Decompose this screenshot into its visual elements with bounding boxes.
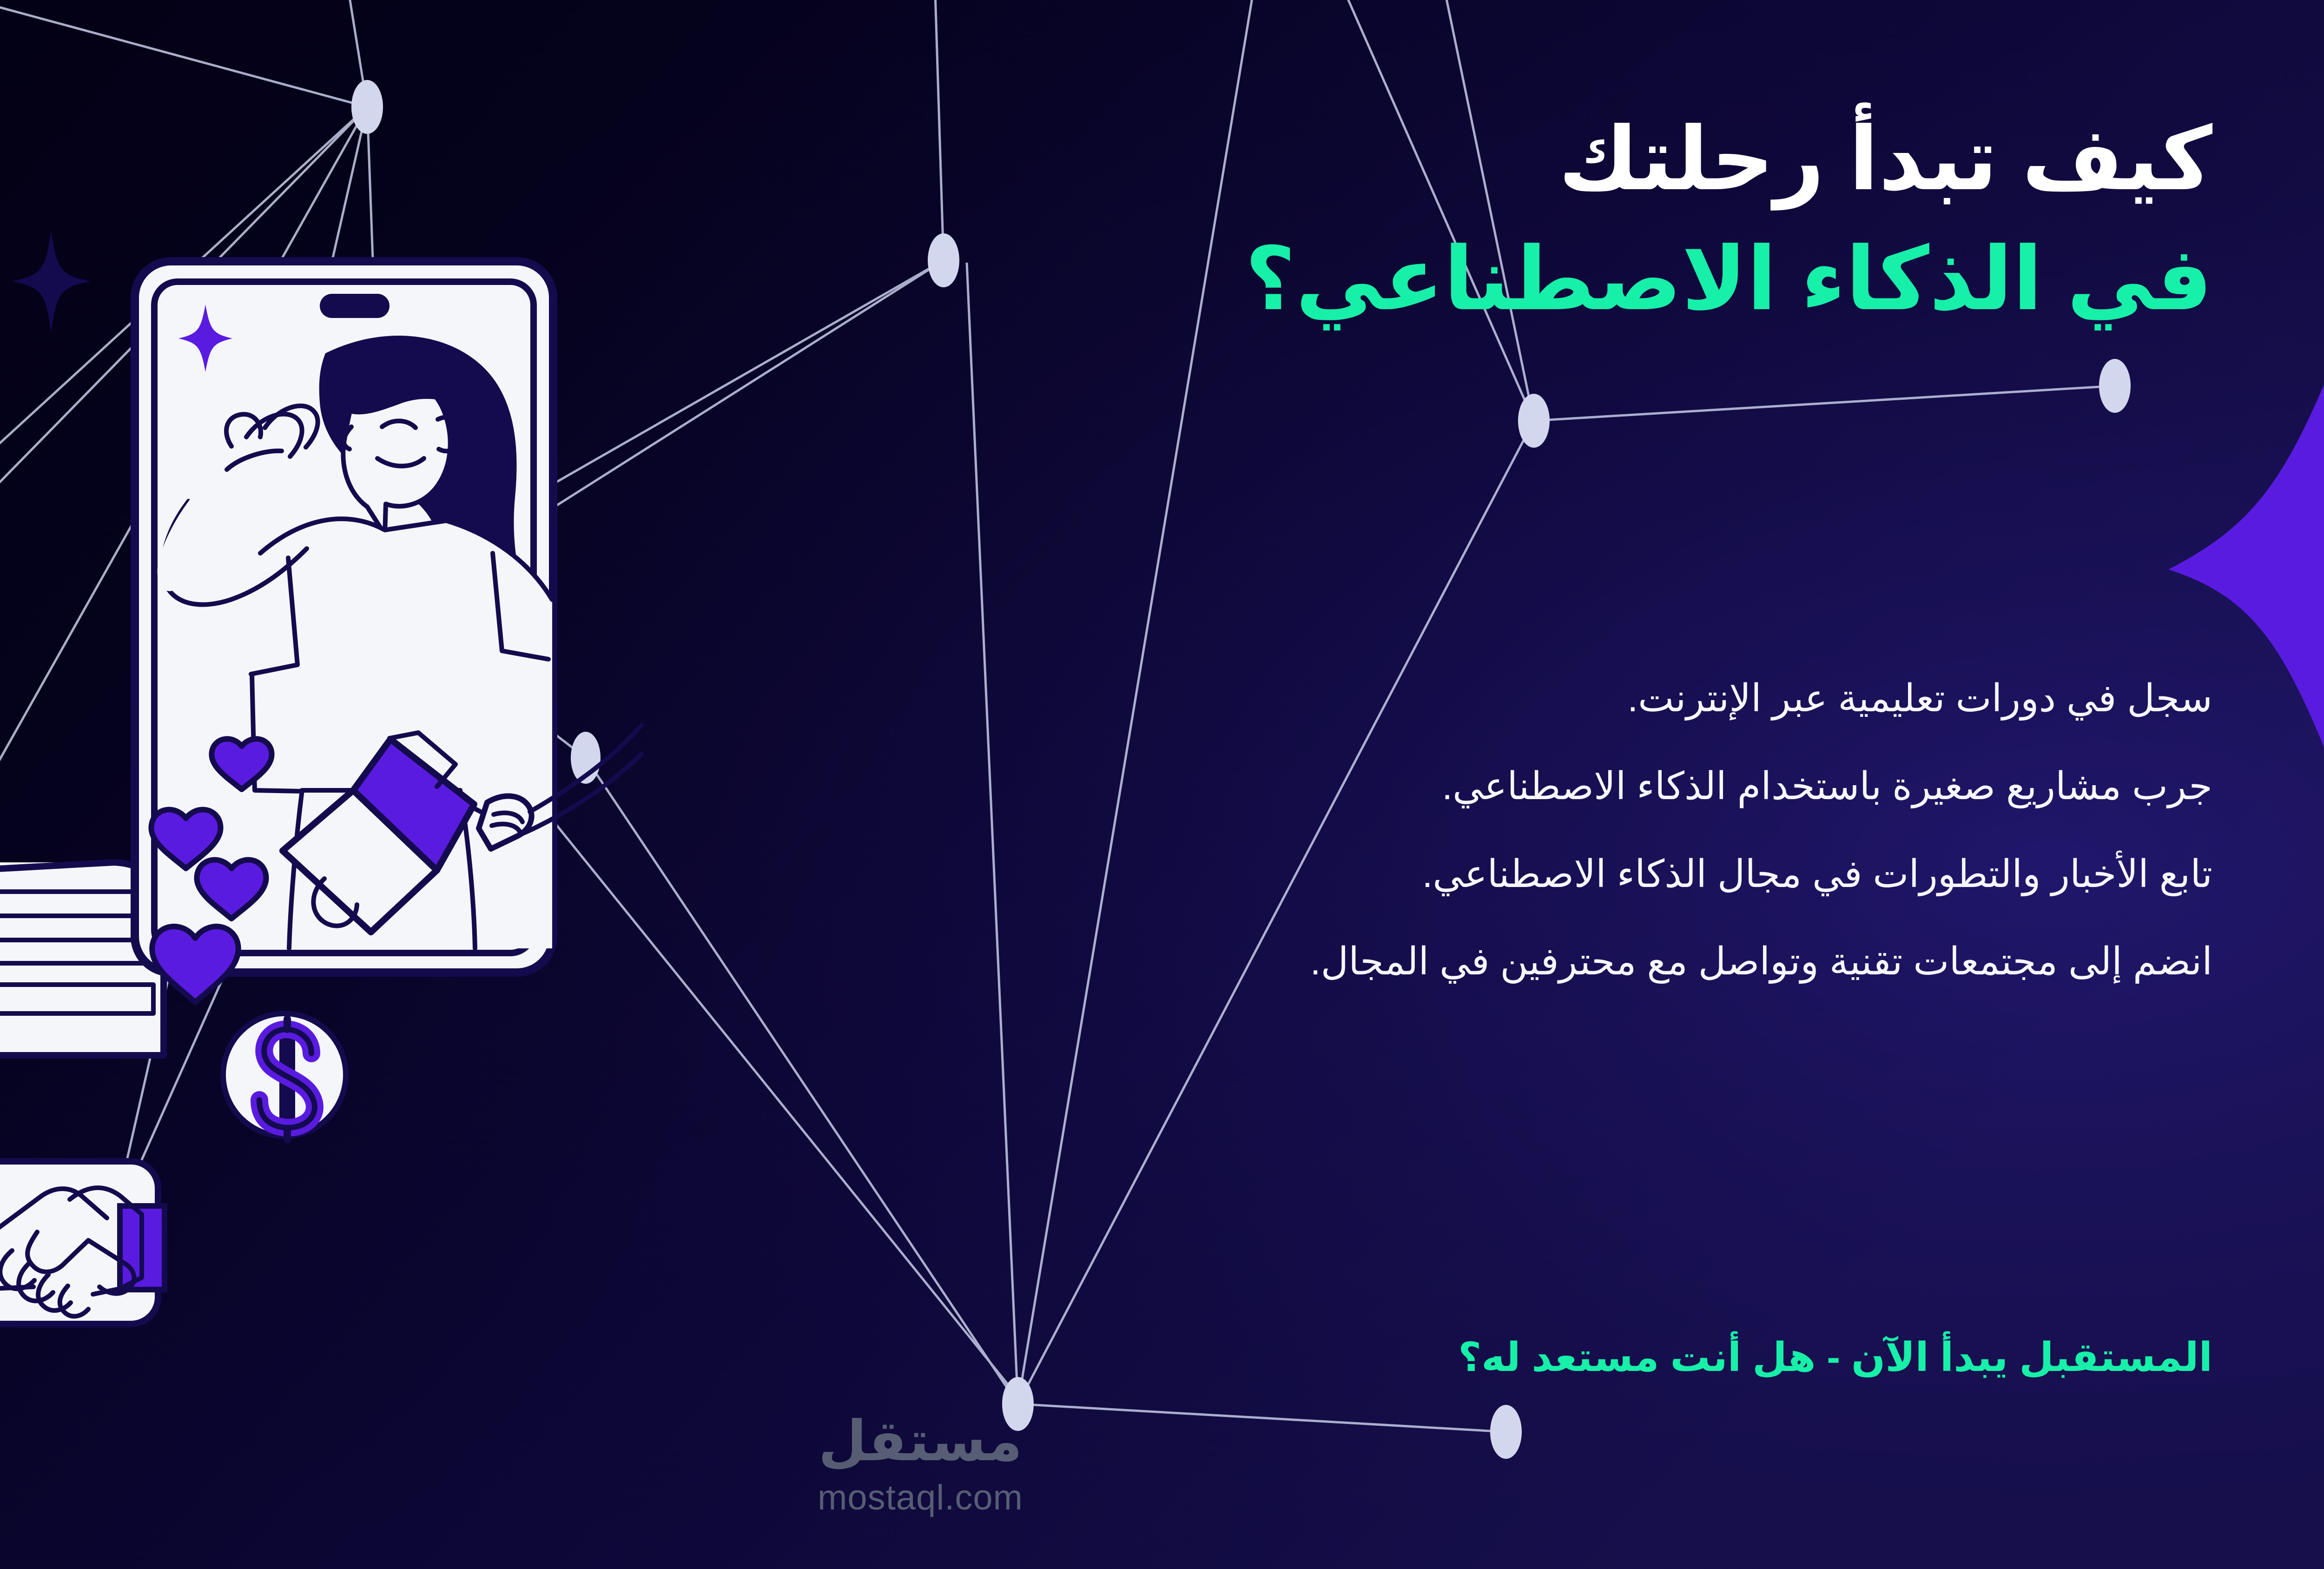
megaphone-icon xyxy=(283,733,493,932)
watermark-url: mostaql.com xyxy=(725,1476,1116,1520)
watermark-arabic: مستقل xyxy=(725,1413,1116,1469)
body-item-3: تابع الأخبار والتطورات في مجال الذكاء ال… xyxy=(762,852,2212,897)
page-title: كيف تبدأ رحلتك في الذكاء الاصطناعي؟ xyxy=(762,102,2212,336)
body-item-4: انضم إلى مجتمعات تقنية وتواصل مع محترفين… xyxy=(762,940,2212,985)
body-list: سجل في دورات تعليمية عبر الإنترنت. جرب م… xyxy=(762,676,2212,985)
illustration-group: .ink{stroke:#140B4E;stroke-width:14;stro… xyxy=(0,0,651,1569)
watermark: مستقل mostaql.com xyxy=(725,1413,1116,1520)
dollar-coin-icon xyxy=(223,1013,346,1140)
cta-text: المستقبل يبدأ الآن - هل أنت مستعد له؟ xyxy=(762,1334,2212,1381)
body-item-1: سجل في دورات تعليمية عبر الإنترنت. xyxy=(762,676,2212,722)
heart-shapes xyxy=(151,739,271,1002)
text-column: كيف تبدأ رحلتك في الذكاء الاصطناعي؟ سجل … xyxy=(734,0,2324,1569)
body-item-2: جرب مشاريع صغيرة باستخدام الذكاء الاصطنا… xyxy=(762,764,2212,809)
poster-canvas: .ink{stroke:#140B4E;stroke-width:14;stro… xyxy=(0,0,2324,1569)
phone-with-woman xyxy=(135,261,641,1002)
handshake-icon xyxy=(0,1161,165,1324)
document-receipt xyxy=(0,862,164,1502)
headline-line-2: في الذكاء الاصطناعي؟ xyxy=(762,222,2212,336)
sparkle-4point-icon xyxy=(12,230,91,332)
headline-line-1: كيف تبدأ رحلتك xyxy=(762,102,2212,216)
